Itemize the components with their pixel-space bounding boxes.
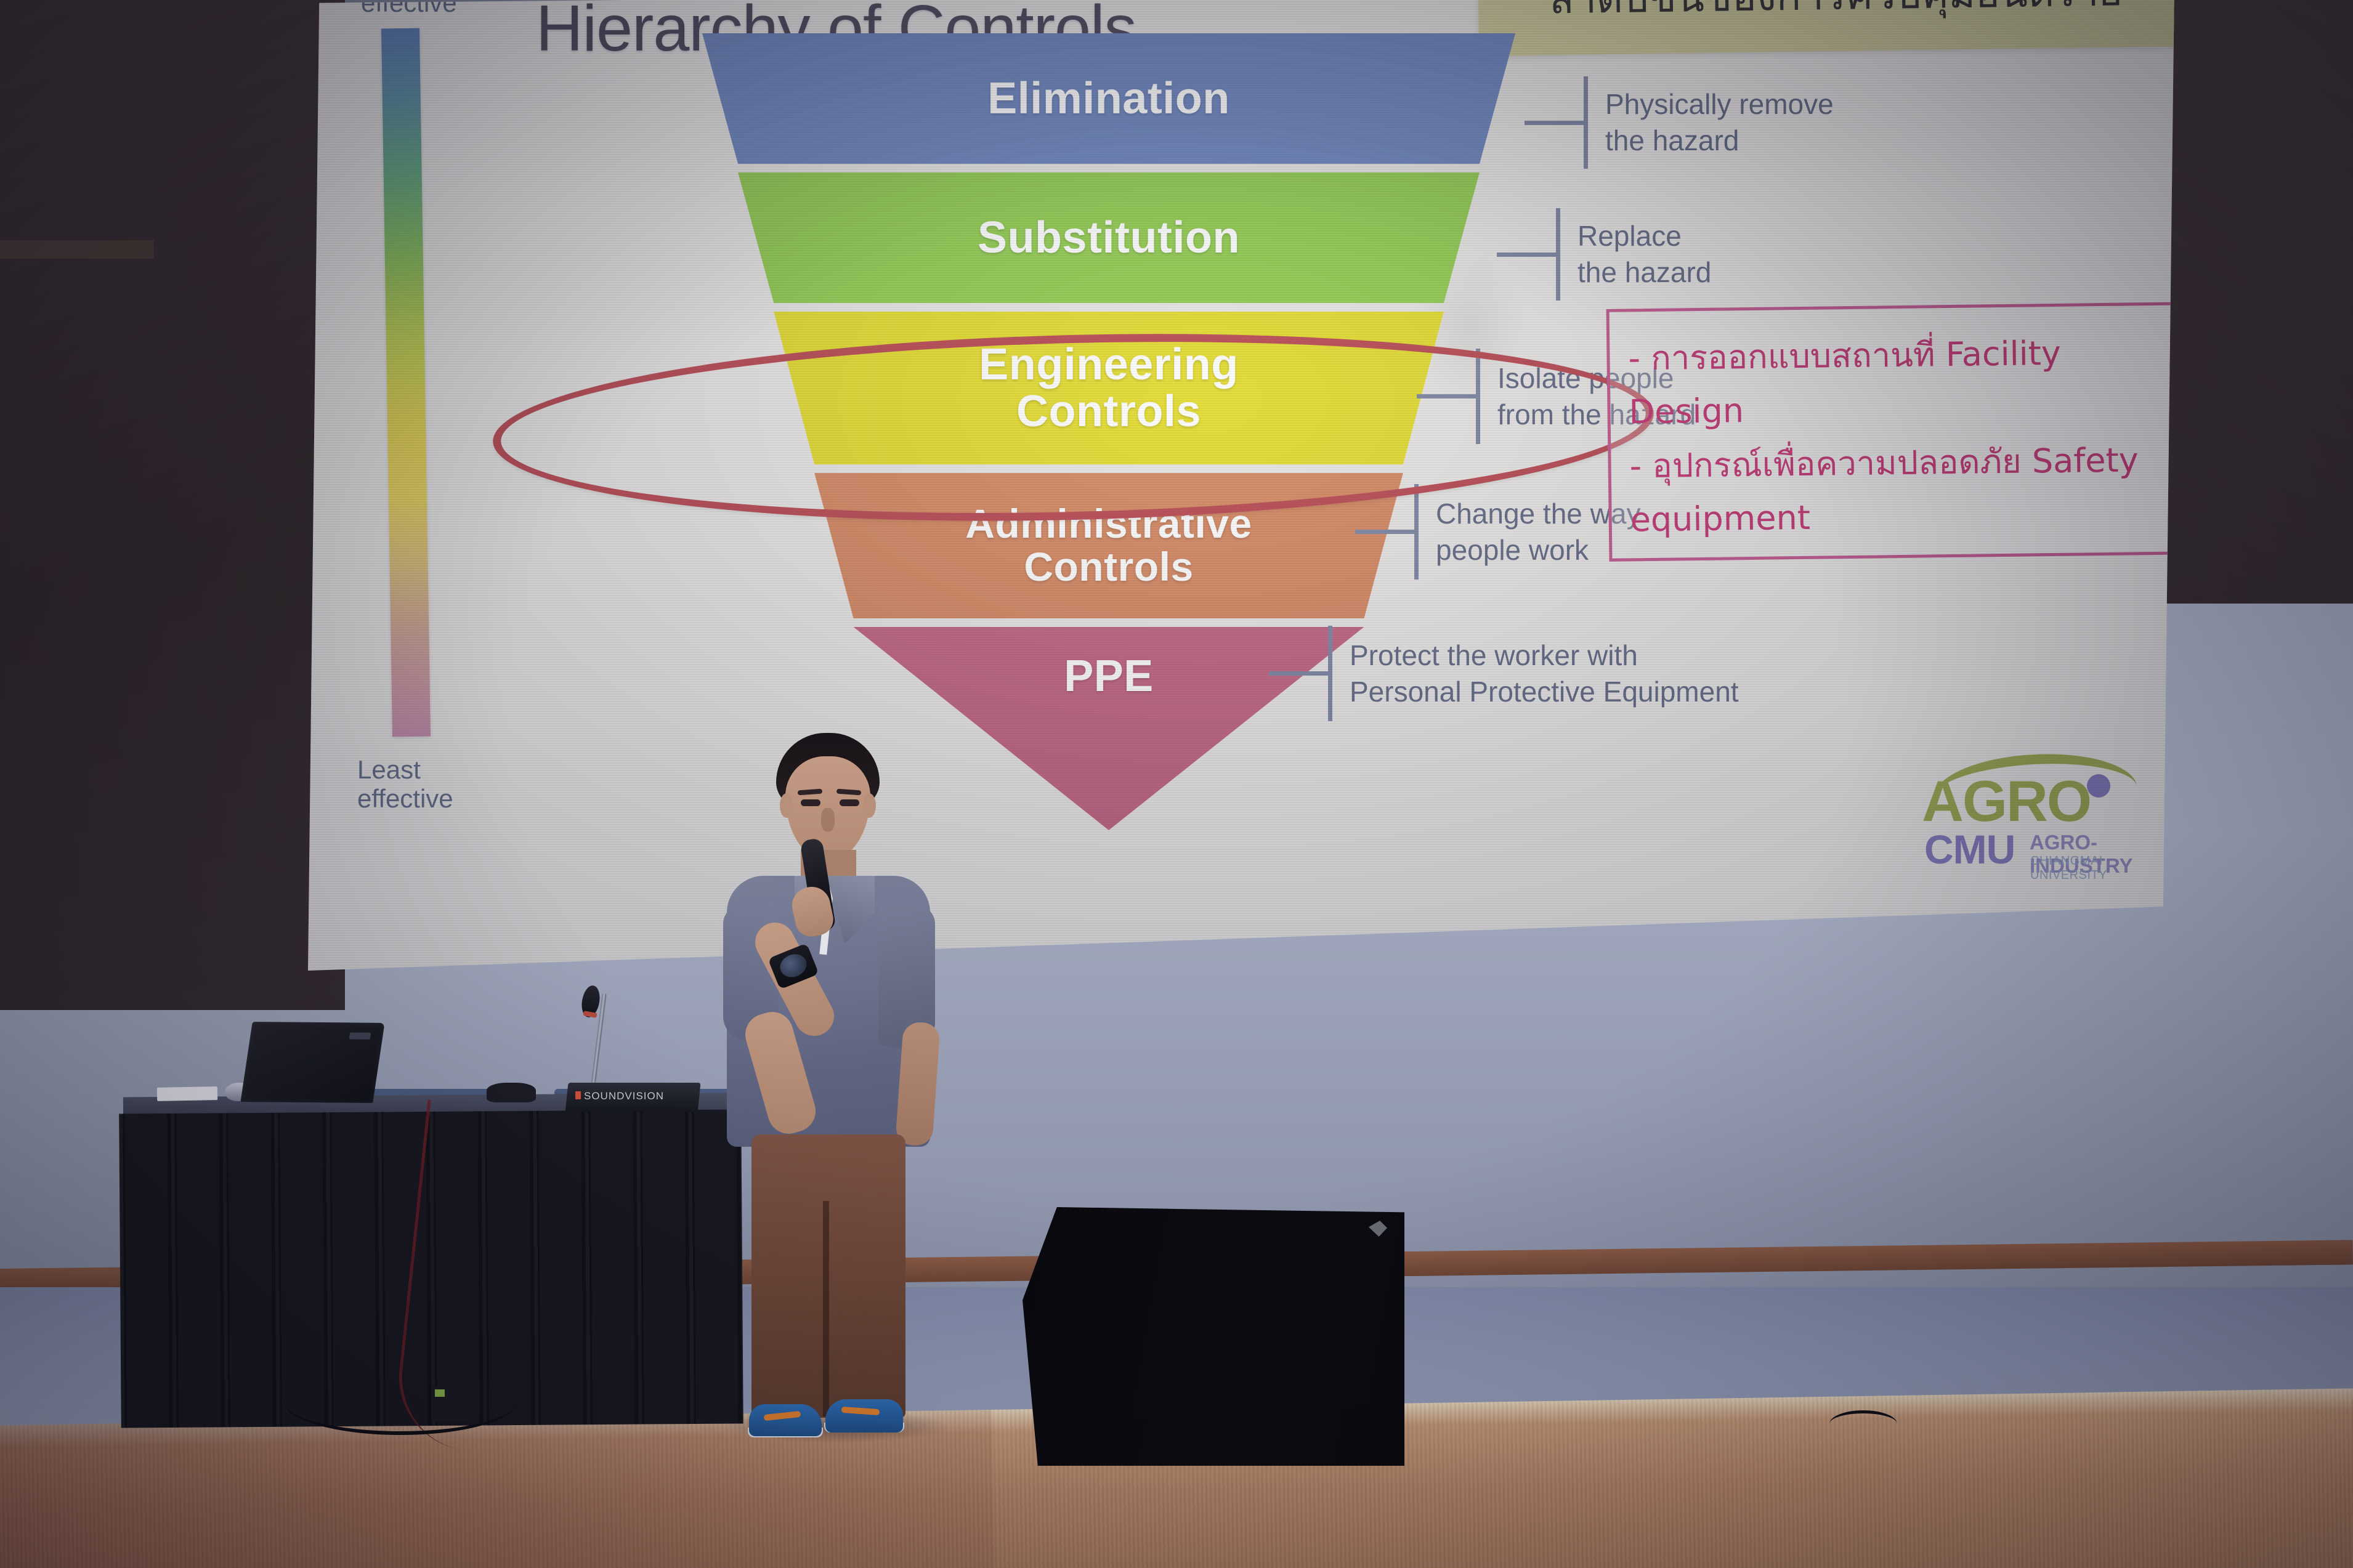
- table-object: [487, 1083, 536, 1102]
- callout-bar-icon: [1584, 76, 1588, 169]
- presenter-eye-left: [801, 799, 820, 806]
- logo-primary-text: AGRO: [1922, 768, 2091, 835]
- laptop: [240, 1022, 384, 1103]
- slide-hierarchy-of-controls: Hierarchy of Controls ลำดับขั้นของการควบ…: [308, 0, 2174, 971]
- callout-dash-icon: [1497, 253, 1556, 257]
- callout-elimination: Physically remove the hazard: [1525, 76, 1834, 169]
- thai-header-text: ลำดับขั้นของการควบคุมอันตราย: [1549, 0, 2123, 55]
- tier-substitution: Substitution: [702, 172, 1515, 303]
- callout-dash-icon: [1355, 530, 1414, 534]
- callout-bar-icon: [1414, 484, 1419, 580]
- callout-bar-icon: [1556, 208, 1560, 301]
- laptop-badge-icon: [349, 1032, 371, 1039]
- mic-base-brand-label: SOUNDVISION: [584, 1090, 664, 1102]
- tier-elimination: Elimination: [702, 33, 1515, 164]
- presenter-shoe-left: [749, 1404, 822, 1436]
- callout-dash-icon: [1269, 671, 1328, 676]
- callout-text-elimination: Physically remove the hazard: [1605, 86, 1834, 159]
- logo-subtitle-2: CHIANGMAI UNIVERSITY: [2030, 854, 2174, 883]
- power-adapter-indicator-icon: [435, 1389, 445, 1397]
- callout-administrative-controls: Change the way people work: [1355, 484, 1640, 580]
- effectiveness-gradient-bar: [381, 28, 431, 737]
- annotation-line-2: - อุปกรณ์เพื่อความปลอดภัย Safety equipme…: [1629, 433, 2174, 548]
- presenter: [696, 733, 955, 1447]
- black-floor-cable: [283, 1367, 517, 1435]
- logo-secondary-text: CMU: [1924, 826, 2015, 873]
- mic-led-icon: [575, 1091, 581, 1099]
- agro-cmu-logo: AGRO CMU AGRO-INDUSTRY CHIANGMAI UNIVERS…: [1922, 752, 2174, 869]
- presentation-scene: Hierarchy of Controls ลำดับขั้นของการควบ…: [0, 0, 2353, 1568]
- presenter-shoe-right: [825, 1399, 903, 1433]
- floor-cable-loop: [1829, 1410, 1897, 1437]
- lectern: [1023, 1207, 1404, 1466]
- left-dark-wall: [0, 0, 345, 1010]
- presenter-eye-right: [840, 799, 859, 806]
- paper-sheet: [157, 1086, 217, 1101]
- callout-dash-icon: [1525, 121, 1584, 125]
- callout-ppe: Protect the worker with Personal Protect…: [1269, 626, 1739, 721]
- callout-text-substitution: Replace the hazard: [1577, 218, 1711, 291]
- callout-text-ppe: Protect the worker with Personal Protect…: [1350, 637, 1739, 710]
- wall-ledge: [0, 240, 154, 259]
- lectern-highlight: [1369, 1221, 1387, 1237]
- presenter-ear-right: [862, 793, 876, 818]
- presenter-nose: [821, 808, 835, 831]
- presenter-arm-right: [895, 1021, 941, 1147]
- least-effective-label: Least effective: [357, 755, 453, 813]
- callout-bar-icon: [1328, 626, 1332, 721]
- projection-screen: Hierarchy of Controls ลำดับขั้นของการควบ…: [308, 0, 2174, 971]
- thai-header-box: ลำดับขั้นของการควบคุมอันตราย: [1478, 0, 2174, 56]
- presenter-ear-left: [780, 793, 793, 818]
- annotation-line-1: - การออกแบบสถานที่ Facility Design: [1628, 325, 2174, 440]
- most-effective-label: Most effective: [361, 0, 457, 17]
- annotation-box: - การออกแบบสถานที่ Facility Design - อุป…: [1606, 302, 2174, 562]
- callout-substitution: Replace the hazard: [1497, 208, 1711, 301]
- presenter-trousers-seam: [823, 1201, 829, 1416]
